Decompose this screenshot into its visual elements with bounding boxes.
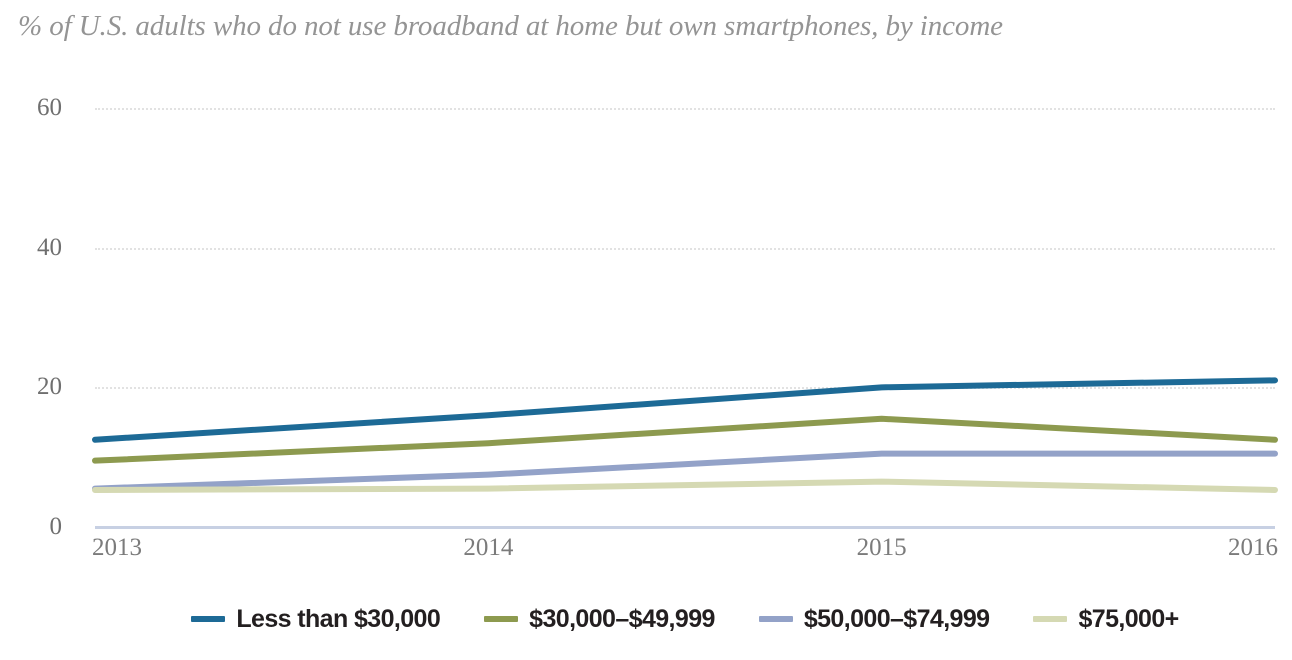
series-lines (95, 108, 1275, 527)
chart-title: % of U.S. adults who do not use broadban… (18, 10, 1178, 43)
legend-item[interactable]: $30,000–$49,999 (484, 605, 715, 634)
legend-label: $30,000–$49,999 (529, 605, 715, 634)
legend-swatch-icon (191, 616, 225, 622)
legend-label: $75,000+ (1078, 605, 1178, 634)
legend-swatch-icon (759, 616, 793, 622)
plot-area (95, 108, 1275, 527)
y-tick-label: 20 (2, 373, 62, 401)
legend-label: $50,000–$74,999 (804, 605, 990, 634)
legend-swatch-icon (484, 616, 518, 622)
y-tick-label: 40 (2, 234, 62, 262)
legend-item[interactable]: $50,000–$74,999 (759, 605, 990, 634)
legend-label: Less than $30,000 (236, 605, 440, 634)
x-tick-label: 2014 (428, 534, 548, 562)
y-tick-label: 0 (2, 513, 62, 541)
y-tick-label: 60 (2, 94, 62, 122)
legend-swatch-icon (1033, 616, 1067, 622)
chart-legend: Less than $30,000$30,000–$49,999$50,000–… (95, 598, 1275, 640)
x-tick-label: 2015 (822, 534, 942, 562)
x-tick-label: 2016 (1193, 534, 1292, 562)
chart-container: % of U.S. adults who do not use broadban… (0, 0, 1292, 660)
legend-item[interactable]: $75,000+ (1033, 605, 1178, 634)
legend-item[interactable]: Less than $30,000 (191, 605, 440, 634)
x-tick-label: 2013 (57, 534, 177, 562)
